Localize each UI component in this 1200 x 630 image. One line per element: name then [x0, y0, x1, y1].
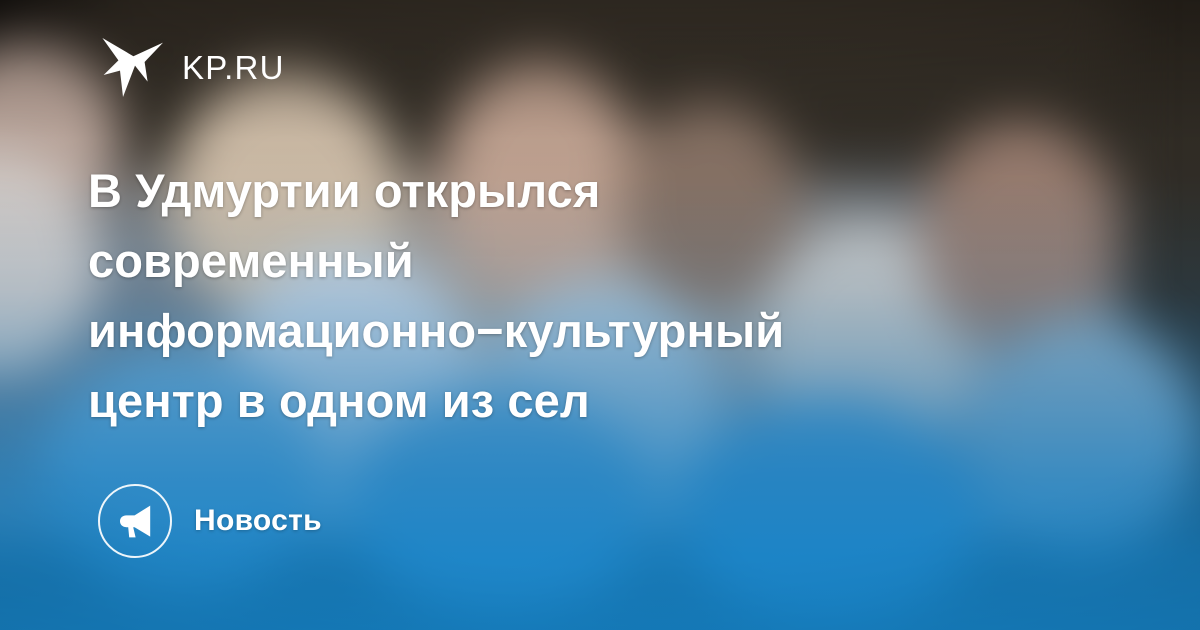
headline: В Удмуртии открылся современный информац… [88, 156, 1088, 436]
card-content: KP.RU В Удмуртии открылся современный ин… [0, 0, 1200, 630]
brand-wordmark: KP.RU [182, 51, 285, 84]
megaphone-icon [116, 504, 154, 538]
headline-line: информационно−культурный [88, 296, 1088, 366]
headline-line: центр в одном из сел [88, 366, 1088, 436]
brand-logo[interactable]: KP.RU [100, 36, 285, 98]
swallow-bird-icon [100, 36, 164, 98]
badge-icon-ring [98, 484, 172, 558]
badge-label: Новость [194, 506, 322, 536]
headline-line: В Удмуртии открылся [88, 156, 1088, 226]
category-badge[interactable]: Новость [98, 484, 322, 558]
share-card: KP.RU В Удмуртии открылся современный ин… [0, 0, 1200, 630]
headline-line: современный [88, 226, 1088, 296]
